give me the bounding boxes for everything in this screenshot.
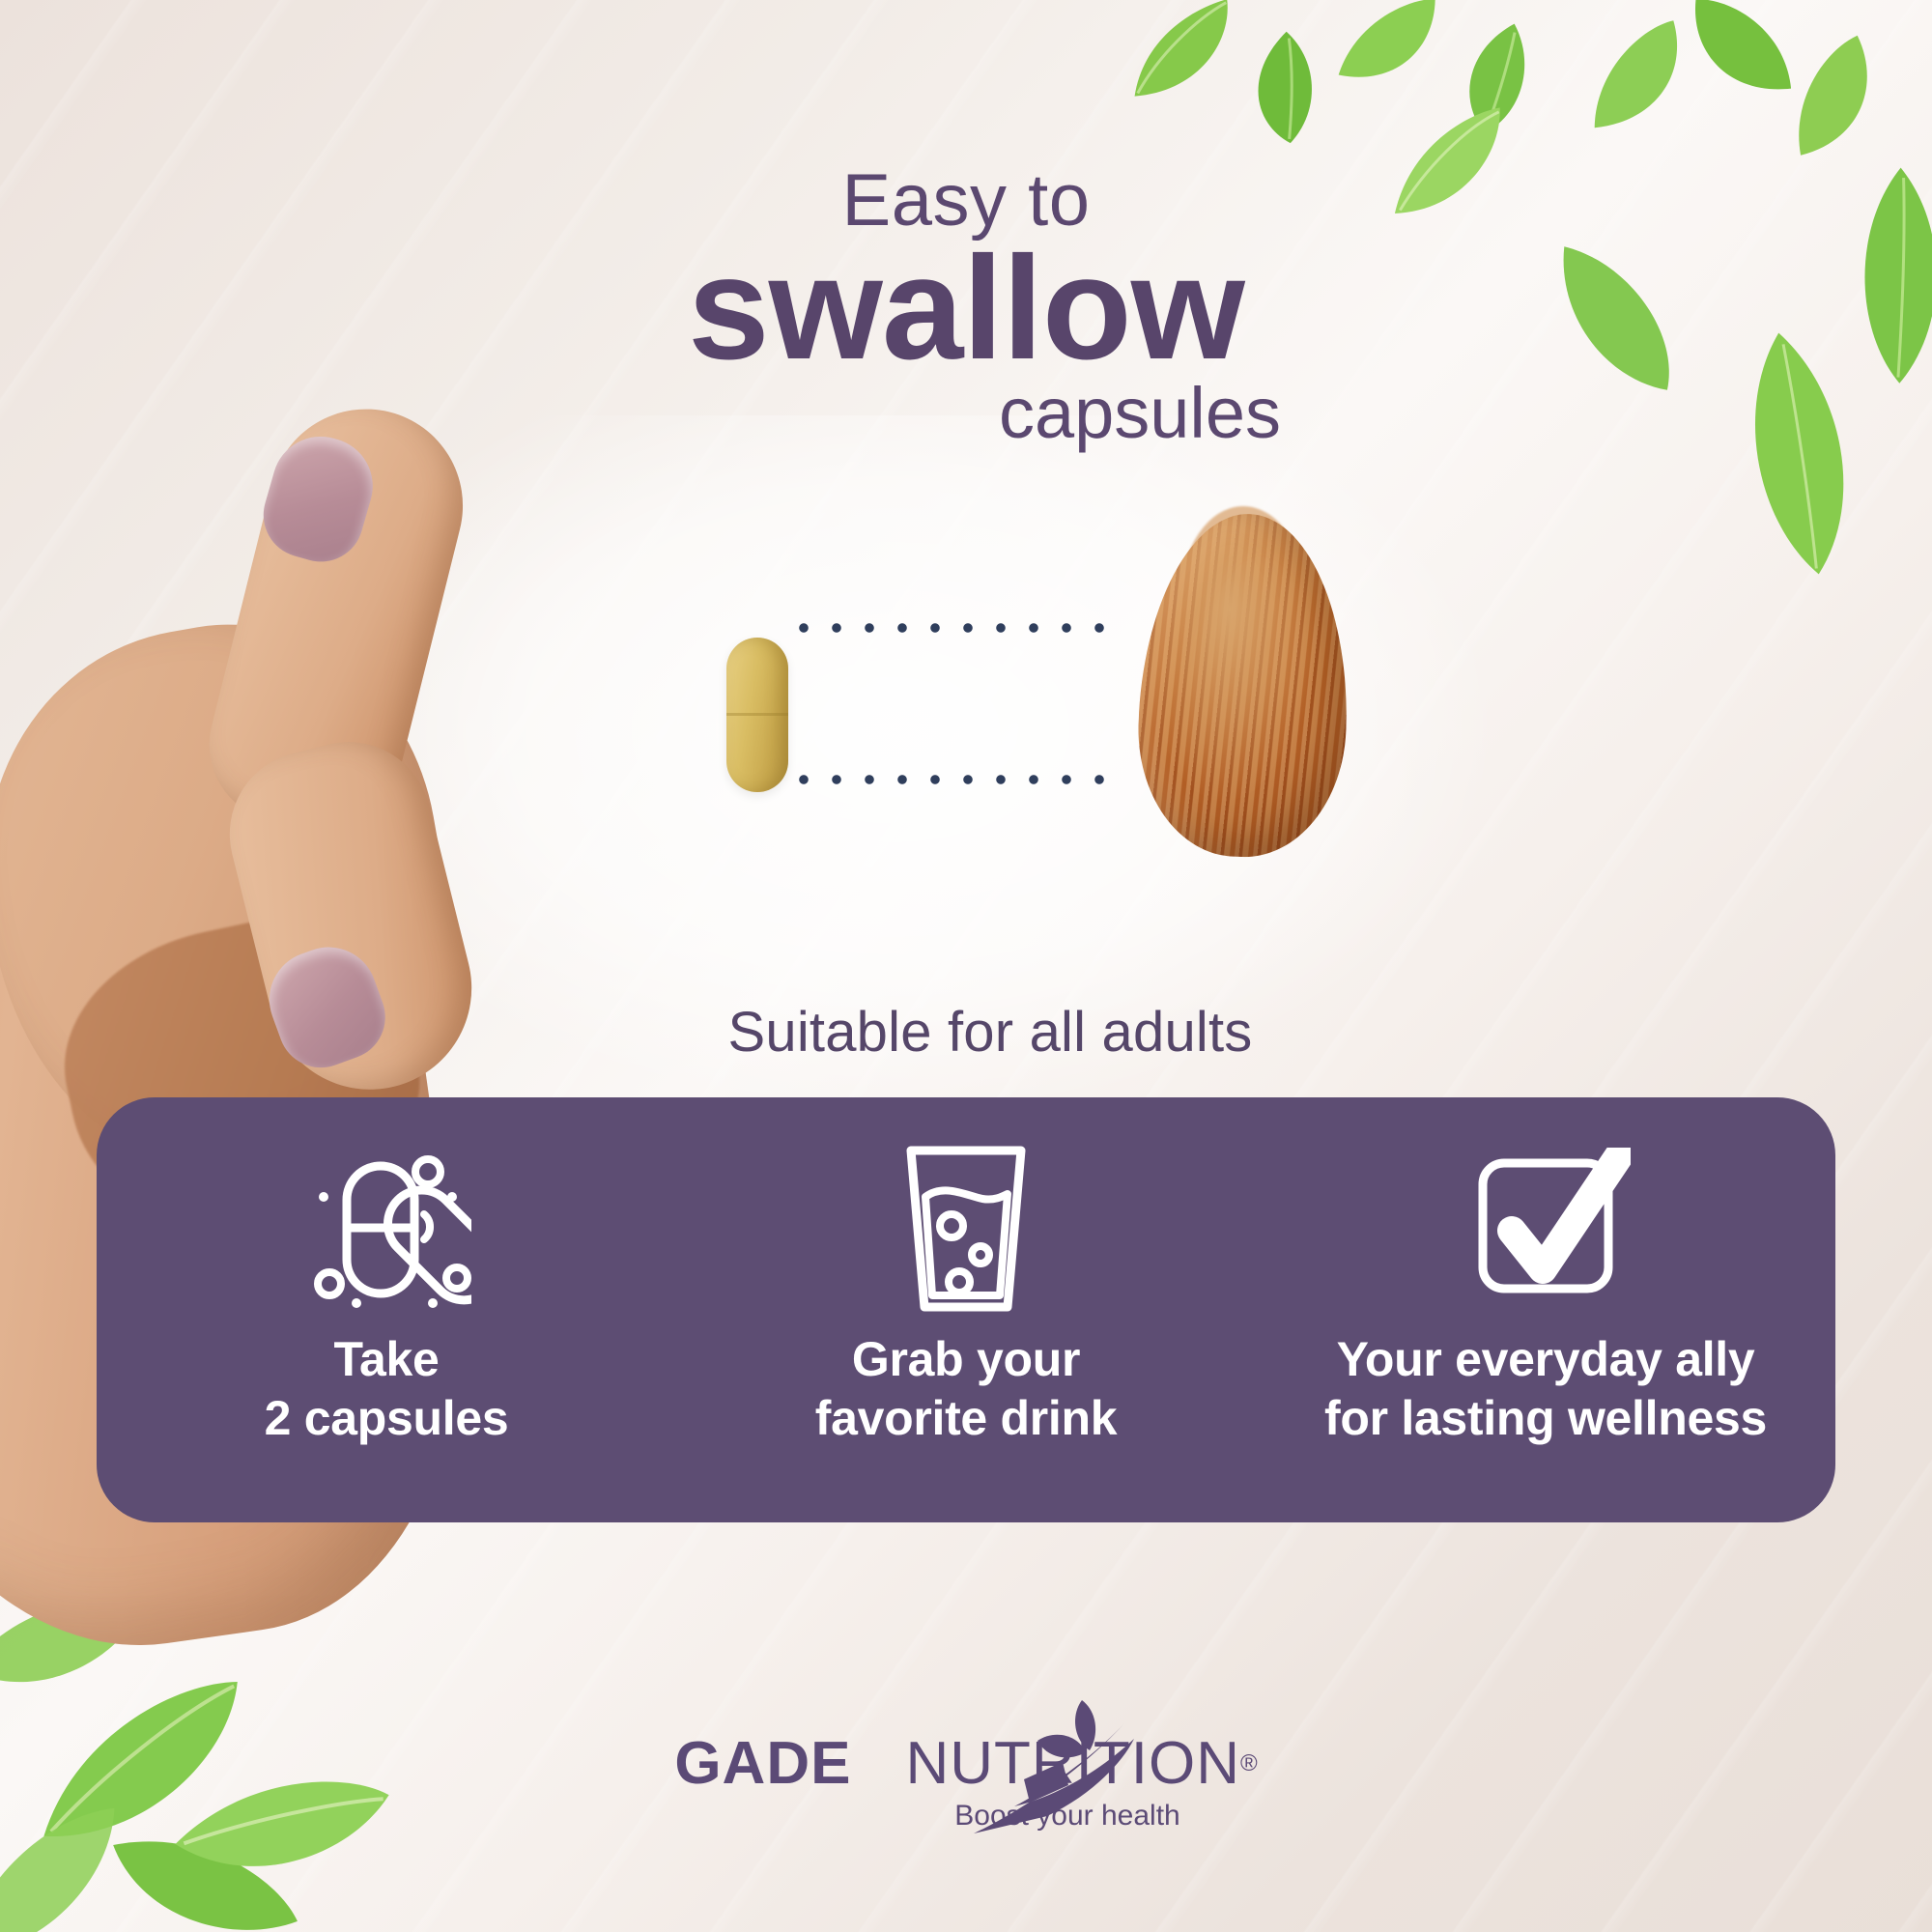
logo-registered-mark: ® bbox=[1240, 1750, 1258, 1777]
size-comparison-line-bottom bbox=[787, 773, 1125, 786]
almond-nut bbox=[1134, 510, 1353, 860]
step-grab-drink: Grab your favorite drink bbox=[676, 1097, 1256, 1448]
step-label: Take 2 capsules bbox=[265, 1330, 509, 1448]
water-glass-icon bbox=[894, 1138, 1038, 1317]
suitable-caption: Suitable for all adults bbox=[0, 1000, 1932, 1065]
leaf-icon bbox=[1208, 16, 1346, 154]
gold-capsule bbox=[726, 638, 788, 792]
headline-block: Easy to swallow capsules bbox=[0, 164, 1932, 449]
steps-row: Take 2 capsules Grab your favorite drink bbox=[97, 1097, 1835, 1522]
checkbox-check-icon bbox=[1462, 1138, 1631, 1317]
logo-wordmark: GADE NUTRITION ® bbox=[674, 1729, 1257, 1798]
step-everyday-ally: Your everyday ally for lasting wellness bbox=[1256, 1097, 1835, 1448]
capsules-icon bbox=[302, 1138, 471, 1317]
suitable-caption-text: Suitable for all adults bbox=[679, 1001, 1252, 1064]
infographic-canvas: Easy to swallow capsules Suitable for al… bbox=[0, 0, 1932, 1932]
logo-brand-bold: GADE bbox=[674, 1729, 851, 1798]
headline-line-2: swallow bbox=[0, 234, 1932, 384]
step-take-capsules: Take 2 capsules bbox=[97, 1097, 676, 1448]
step-label: Your everyday ally for lasting wellness bbox=[1324, 1330, 1767, 1448]
step-label: Grab your favorite drink bbox=[815, 1330, 1118, 1448]
leaf-swoosh-figure-icon bbox=[954, 1696, 1206, 1841]
size-comparison-line-top bbox=[787, 621, 1125, 635]
brand-logo: GADE NUTRITION ® Boost your health bbox=[0, 1729, 1932, 1833]
